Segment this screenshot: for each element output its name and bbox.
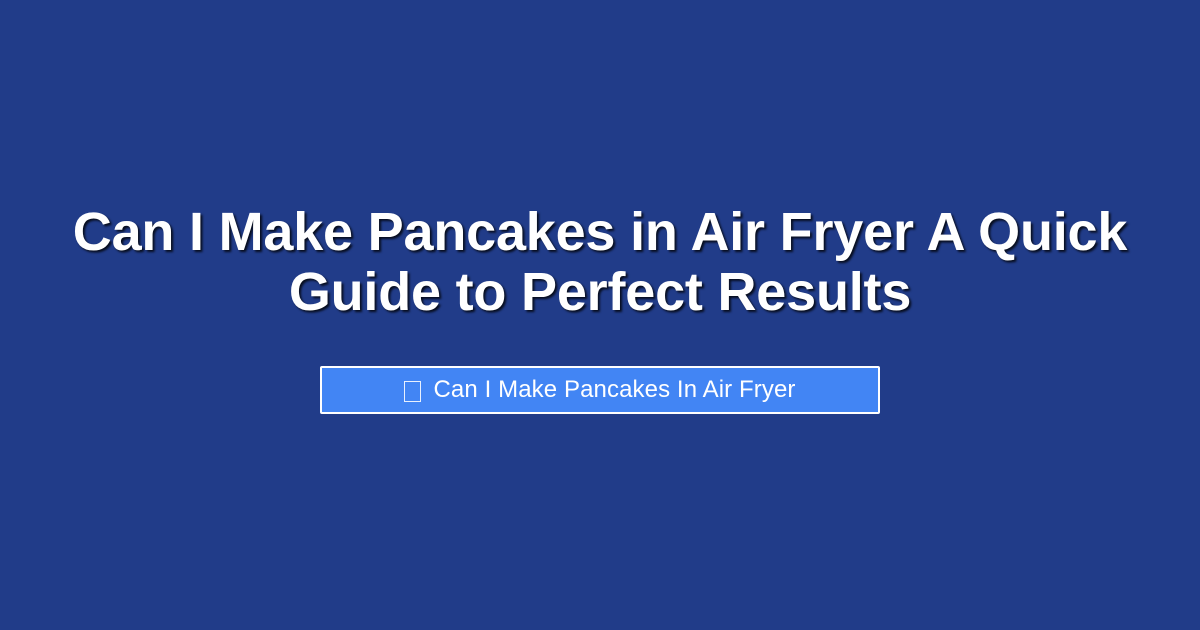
cta-button[interactable]: Can I Make Pancakes In Air Fryer [320,366,880,414]
page-title: Can I Make Pancakes in Air Fryer A Quick… [70,202,1130,322]
cta-button-label: Can I Make Pancakes In Air Fryer [433,376,795,404]
missing-glyph-box-icon [404,381,421,402]
cta-container: Can I Make Pancakes In Air Fryer [40,366,1160,414]
card-content-stack: Can I Make Pancakes in Air Fryer A Quick… [40,202,1160,414]
og-image-card: Can I Make Pancakes in Air Fryer A Quick… [0,0,1200,630]
